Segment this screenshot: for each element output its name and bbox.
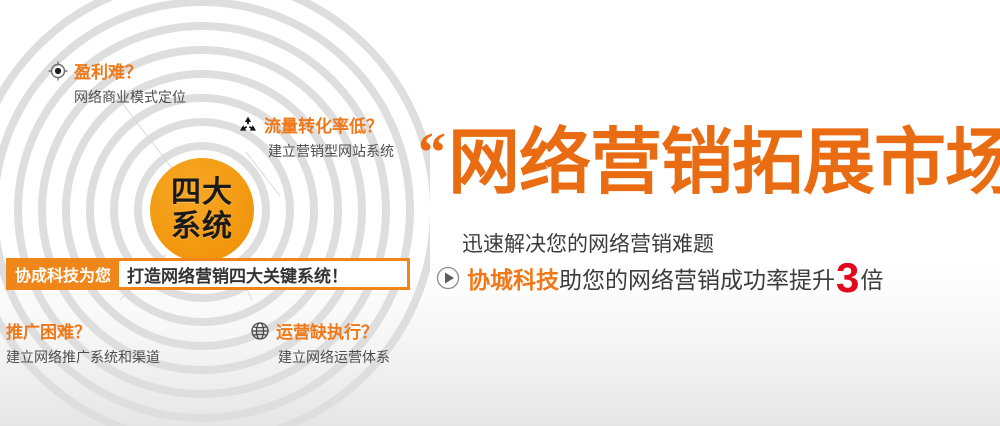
center-bubble-line1: 四大 — [171, 178, 233, 208]
feature-profit-title: 盈利难？ — [74, 58, 142, 83]
feature-operations: 运营缺执行？ 建立网络运营体系 — [250, 318, 390, 367]
feature-traffic: 流量转化率低？ 建立营销型网站系统 — [238, 112, 394, 161]
recycle-icon — [238, 115, 258, 135]
marketing-banner: 四大 系统 盈利难？ 网络商业模式定位 — [0, 0, 1000, 426]
brand-name: 协城科技 — [467, 261, 559, 295]
feature-profit: 盈利难？ 网络商业模式定位 — [48, 58, 186, 107]
feature-operations-head: 运营缺执行？ — [250, 318, 390, 343]
headline-text: 网络营销拓展市场 — [448, 126, 1000, 202]
highlight-strip: 协成科技为您 打造网络营销四大关键系统！ — [6, 258, 410, 290]
play-circle-icon — [436, 266, 460, 290]
center-bubble: 四大 系统 — [150, 158, 254, 262]
feature-traffic-title: 流量转化率低？ — [264, 112, 383, 137]
subheadline-line1: 迅速解决您的网络营销难题 — [462, 228, 1000, 258]
feature-operations-sub: 建立网络运营体系 — [278, 347, 390, 367]
subheadline-line2-rest: 助您的网络营销成功率提升 — [559, 261, 835, 295]
feature-profit-head: 盈利难？ — [48, 58, 186, 83]
highlight-strip-tag: 协成科技为您 — [9, 262, 119, 286]
feature-promotion-sub: 建立网络推广系统和渠道 — [6, 347, 160, 367]
highlight-strip-plate: 打造网络营销四大关键系统！ — [119, 261, 407, 287]
quote-open-mark: “ — [418, 134, 446, 173]
headline-block: “ 网络营销拓展市场 ” 迅速解决您的网络营销难题 协城科技 助您的网络营销成功… — [418, 126, 1000, 295]
subheadline-line2: 协城科技 助您的网络营销成功率提升 3 倍 — [436, 261, 1000, 295]
globe-icon — [250, 321, 270, 341]
multiplier-number: 3 — [836, 261, 859, 295]
feature-profit-sub: 网络商业模式定位 — [74, 87, 186, 107]
feature-traffic-sub: 建立营销型网站系统 — [268, 141, 394, 161]
crosshair-icon — [48, 61, 68, 81]
center-bubble-line2: 系统 — [171, 212, 233, 242]
headline: “ 网络营销拓展市场 ” — [418, 126, 1000, 222]
feature-promotion-head: 推广困难？ — [6, 318, 160, 343]
feature-operations-title: 运营缺执行？ — [276, 318, 378, 343]
feature-promotion: 推广困难？ 建立网络推广系统和渠道 — [6, 318, 160, 367]
multiplier-unit: 倍 — [860, 261, 883, 295]
feature-promotion-title: 推广困难？ — [6, 318, 91, 343]
feature-traffic-head: 流量转化率低？ — [238, 112, 394, 137]
